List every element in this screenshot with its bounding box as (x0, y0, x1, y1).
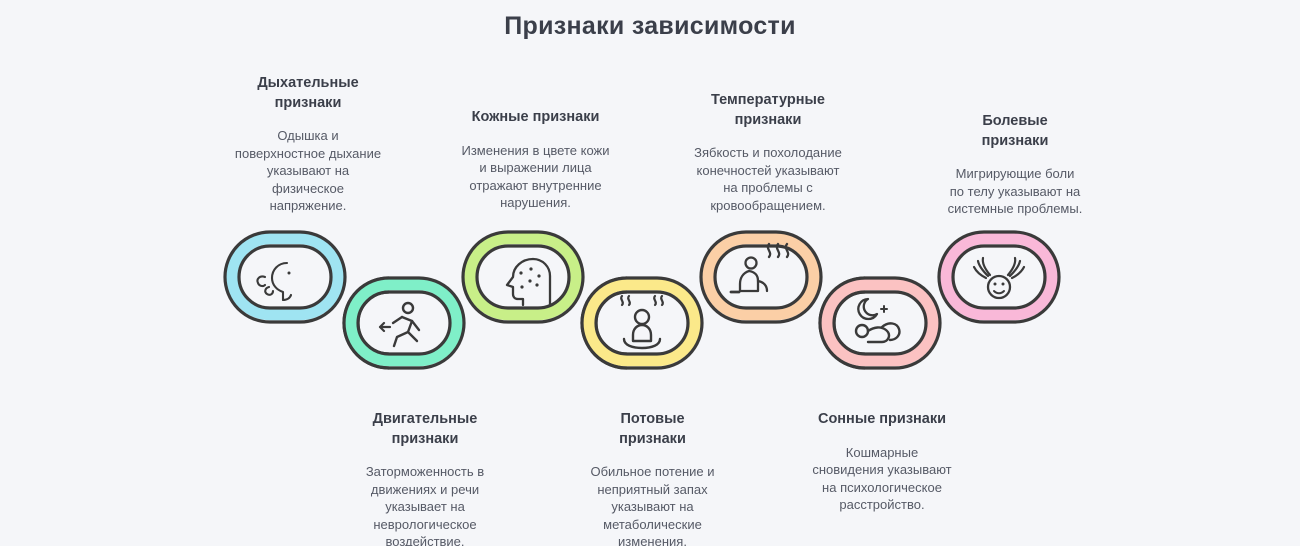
label-body: Одышка и поверхностное дыхание указывают… (218, 127, 398, 215)
label-block-sleep: Сонные признаки Кошмарные сновидения ука… (792, 410, 972, 514)
label-heading: Болевые признаки (925, 112, 1105, 151)
label-body: Заторможенность в движениях и речи указы… (330, 463, 520, 546)
label-heading: Дыхательные признаки (218, 74, 398, 113)
label-heading: Сонные признаки (792, 410, 972, 430)
label-block-skin: Кожные признаки Изменения в цвете кожи и… (443, 108, 628, 212)
label-block-movement: Двигательные признаки Заторможенность в … (330, 410, 520, 546)
label-heading: Потовые признаки (565, 410, 740, 449)
label-heading: Температурные признаки (673, 91, 863, 130)
label-body: Зябкость и похолодание конечностей указы… (673, 144, 863, 214)
chain-link-3[interactable] (463, 232, 583, 322)
label-body: Изменения в цвете кожи и выражении лица … (443, 142, 628, 212)
page-title: Признаки зависимости (0, 12, 1300, 41)
label-block-breathing: Дыхательные признаки Одышка и поверхност… (218, 74, 398, 215)
label-body: Кошмарные сновидения указывают на психол… (792, 444, 972, 514)
label-heading: Кожные признаки (443, 108, 628, 128)
chain-link-5[interactable] (701, 232, 821, 322)
infographic-canvas: Признаки зависимости Дыхательные признак… (0, 0, 1300, 546)
chain-link-1[interactable] (225, 232, 345, 322)
label-body: Обильное потение и неприятный запах указ… (565, 463, 740, 546)
label-block-sweat: Потовые признаки Обильное потение и непр… (565, 410, 740, 546)
label-block-temperature: Температурные признаки Зябкость и похоло… (673, 91, 863, 214)
label-block-pain: Болевые признаки Мигрирующие боли по тел… (925, 112, 1105, 218)
chain-graphic (0, 205, 1300, 395)
label-heading: Двигательные признаки (330, 410, 520, 449)
